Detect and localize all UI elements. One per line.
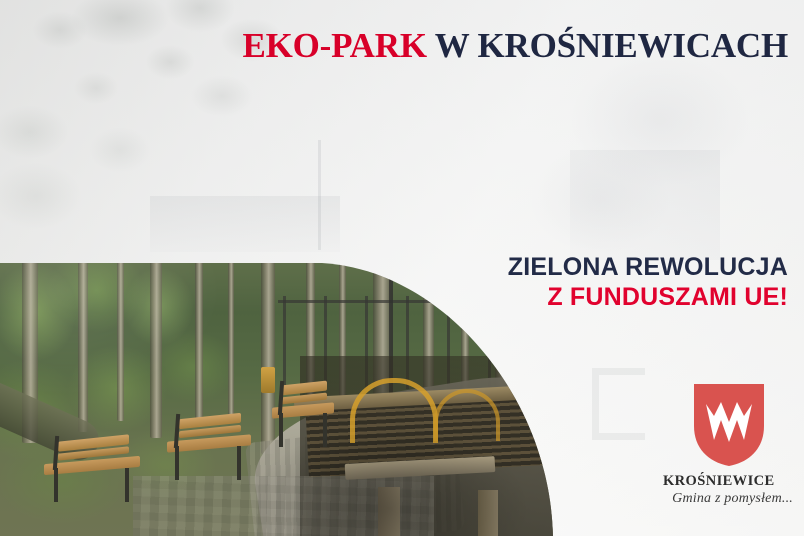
background-pole	[318, 140, 321, 250]
poster-canvas: EKO-PARK W KROŚNIEWICACH ZIELONA REWOLUC…	[0, 0, 804, 536]
subtitle-line-1: ZIELONA REWOLUCJA	[508, 253, 788, 283]
background-structure-right	[570, 150, 720, 260]
page-title: EKO-PARK W KROŚNIEWICACH	[0, 28, 788, 63]
background-glyph	[592, 368, 645, 440]
logo-municipality-name: KROŚNIEWICE	[659, 473, 799, 490]
page-title-rest: W KROŚNIEWICACH	[427, 26, 788, 65]
coat-of-arms-icon	[692, 382, 766, 468]
municipality-logo: KROŚNIEWICE Gmina z pomysłem...	[659, 382, 799, 507]
subtitle-block: ZIELONA REWOLUCJA Z FUNDUSZAMI UE!	[508, 253, 788, 312]
subtitle-line-2: Z FUNDUSZAMI UE!	[508, 283, 788, 313]
page-title-highlight: EKO-PARK	[242, 26, 426, 65]
background-structure-left	[150, 196, 340, 252]
logo-tagline: Gmina z pomysłem...	[659, 491, 799, 507]
